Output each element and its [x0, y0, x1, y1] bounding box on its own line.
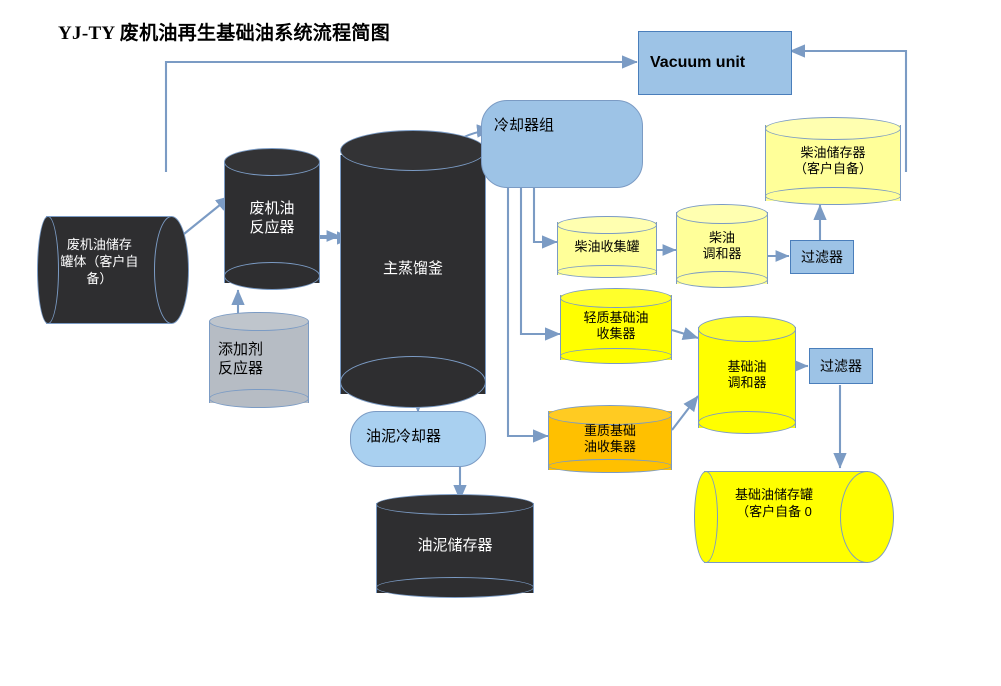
node-diesel-collector-label: 柴油收集罐: [557, 216, 657, 278]
node-filter-diesel[interactable]: 过滤器: [790, 240, 854, 274]
node-diesel-collector[interactable]: 柴油收集罐: [557, 216, 657, 278]
pipe-light-to-blender: [672, 330, 698, 338]
node-base-oil-blender[interactable]: 基础油 调和器: [698, 316, 796, 434]
node-vacuum-unit-label: Vacuum unit: [639, 53, 791, 72]
cylinder-cap-right: [154, 216, 189, 324]
node-main-kettle[interactable]: 主蒸馏釜: [340, 130, 486, 408]
node-heavy-base-collector[interactable]: 重质基础 油收集器: [548, 405, 672, 473]
node-sludge-storage[interactable]: 油泥储存器: [376, 494, 534, 598]
node-light-base-collector[interactable]: 轻质基础油 收集器: [560, 288, 672, 364]
node-waste-oil-reactor[interactable]: 废机油 反应器: [224, 148, 320, 290]
pipe-heavy-to-blender: [672, 396, 698, 430]
node-base-oil-storage[interactable]: 基础油储存罐 （客户自备 0: [694, 471, 894, 563]
pipe-reactor-riser: [318, 236, 340, 262]
flow-diagram-canvas: YJ-TY 废机油再生基础油系统流程简图: [0, 0, 1001, 686]
node-base-oil-storage-label: 基础油储存罐 （客户自备 0: [698, 471, 850, 563]
node-sludge-cooler[interactable]: 油泥冷却器: [350, 411, 486, 467]
node-additive-reactor[interactable]: 添加剂 反应器: [209, 312, 309, 408]
node-filter-base-label: 过滤器: [820, 358, 862, 375]
node-waste-oil-storage[interactable]: 废机油储存 罐体（客户自 备）: [37, 216, 189, 324]
node-waste-oil-storage-label: 废机油储存 罐体（客户自 备）: [40, 216, 159, 324]
node-cooler-group-label: 冷却器组: [482, 101, 554, 136]
node-sludge-cooler-label: 油泥冷却器: [351, 412, 441, 447]
node-cooler-group[interactable]: 冷却器组: [481, 100, 643, 188]
pipe-cooler-to-diesel: [534, 182, 557, 242]
node-main-kettle-label: 主蒸馏釜: [340, 130, 486, 408]
node-vacuum-unit[interactable]: Vacuum unit: [638, 31, 792, 95]
node-filter-diesel-label: 过滤器: [801, 249, 843, 266]
pipe-cooler-to-heavy: [508, 182, 548, 436]
node-additive-reactor-label: 添加剂 反应器: [209, 312, 309, 408]
page-title: YJ-TY 废机油再生基础油系统流程简图: [58, 18, 390, 45]
node-heavy-base-collector-label: 重质基础 油收集器: [548, 405, 672, 473]
node-diesel-blender-label: 柴油 调和器: [676, 204, 768, 288]
node-filter-base[interactable]: 过滤器: [809, 348, 873, 384]
pipe-cooler-to-light: [521, 182, 560, 334]
node-diesel-storage-label: 柴油储存器 （客户自备）: [765, 117, 901, 205]
node-diesel-storage[interactable]: 柴油储存器 （客户自备）: [765, 117, 901, 205]
node-light-base-collector-label: 轻质基础油 收集器: [560, 288, 672, 364]
node-diesel-blender[interactable]: 柴油 调和器: [676, 204, 768, 288]
node-sludge-storage-label: 油泥储存器: [376, 494, 534, 598]
node-waste-oil-reactor-label: 废机油 反应器: [224, 148, 320, 290]
node-base-oil-blender-label: 基础油 调和器: [698, 316, 796, 434]
